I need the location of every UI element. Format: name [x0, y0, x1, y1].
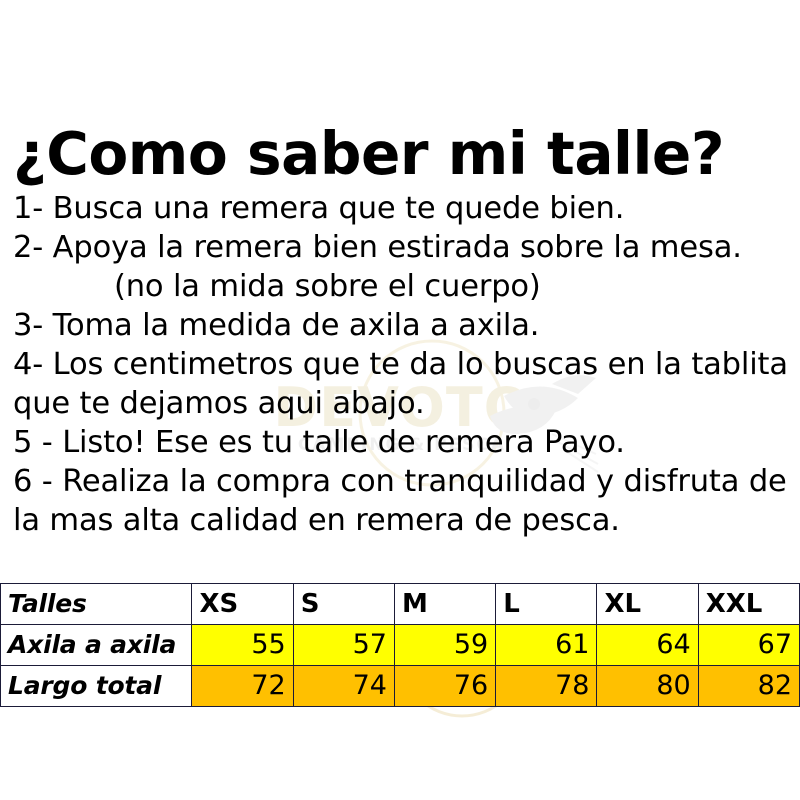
size-header-m: M — [394, 584, 495, 625]
size-header-xl: XL — [597, 584, 698, 625]
length-value-l: 78 — [496, 666, 597, 707]
length-value-xs: 72 — [192, 666, 293, 707]
instruction-step: 1- Busca una remera que te quede bien. — [13, 189, 797, 228]
instruction-step-continued: que te dejamos aqui abajo. — [13, 384, 797, 423]
length-value-xl: 80 — [597, 666, 698, 707]
length-value-m: 76 — [394, 666, 495, 707]
instruction-step: 4- Los centimetros que te da lo buscas e… — [13, 345, 797, 384]
chest-value-s: 57 — [293, 625, 394, 666]
table-row-chest: Axila a axila 55 57 59 61 64 67 — [1, 625, 800, 666]
length-value-xxl: 82 — [698, 666, 799, 707]
instruction-list: 1- Busca una remera que te quede bien. 2… — [13, 189, 797, 540]
length-value-s: 74 — [293, 666, 394, 707]
chest-value-xs: 55 — [192, 625, 293, 666]
size-guide-page: DEVOTO CAMPING & PESCA DEVOTO CAMPING & … — [0, 0, 800, 800]
chest-value-xl: 64 — [597, 625, 698, 666]
table-row-length: Largo total 72 74 76 78 80 82 — [1, 666, 800, 707]
instruction-step: 6 - Realiza la compra con tranquilidad y… — [13, 462, 797, 501]
chest-value-xxl: 67 — [698, 625, 799, 666]
chest-value-l: 61 — [496, 625, 597, 666]
row-label-length: Largo total — [1, 666, 192, 707]
instruction-step: 3- Toma la medida de axila a axila. — [13, 306, 797, 345]
instruction-step-continued: la mas alta calidad en remera de pesca. — [13, 501, 797, 540]
instruction-step: 2- Apoya la remera bien estirada sobre l… — [13, 228, 797, 267]
size-header-s: S — [293, 584, 394, 625]
instruction-step-note: (no la mida sobre el cuerpo) — [13, 267, 797, 306]
page-title: ¿Como saber mi talle? — [13, 124, 781, 183]
table-corner-label: Talles — [1, 584, 192, 625]
size-chart-table: Talles XS S M L XL XXL Axila a axila 55 … — [0, 583, 800, 707]
size-header-xs: XS — [192, 584, 293, 625]
size-header-l: L — [496, 584, 597, 625]
chest-value-m: 59 — [394, 625, 495, 666]
instruction-step: 5 - Listo! Ese es tu talle de remera Pay… — [13, 423, 797, 462]
table-header-row: Talles XS S M L XL XXL — [1, 584, 800, 625]
row-label-chest: Axila a axila — [1, 625, 192, 666]
size-header-xxl: XXL — [698, 584, 799, 625]
